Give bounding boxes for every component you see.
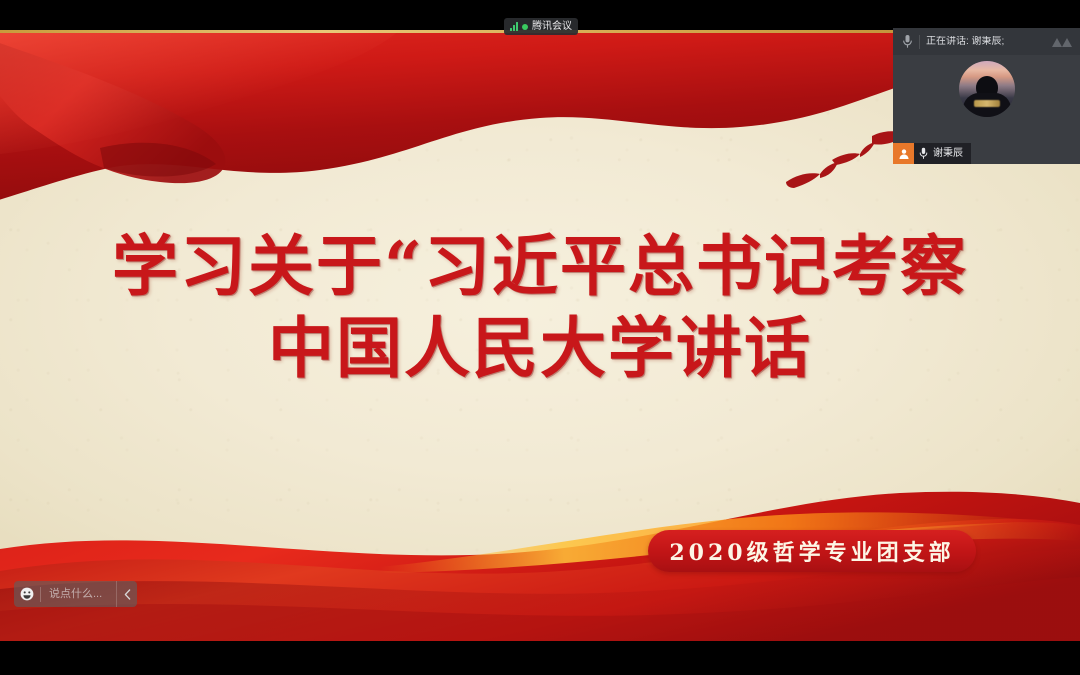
avatar-jacket-logo [974,100,1000,107]
speaking-status-label: 正在讲话: 谢秉辰; [926,36,1049,48]
collapse-chevrons-icon[interactable] [1049,32,1075,52]
slide-title: 学习关于“习近平总书记考察 中国人民大学讲话 [0,225,1080,389]
letterbox-bottom [0,641,1080,675]
organization-banner-label: 2020级哲学专业团支部 [669,535,954,567]
signal-bars-icon [510,22,518,31]
participant-name: 谢秉辰 [932,148,971,160]
chevron-left-icon[interactable] [116,581,137,607]
smiley-emoji-icon[interactable] [14,581,40,607]
green-status-dot-icon [522,24,528,30]
microphone-icon [914,143,932,164]
chat-input-placeholder[interactable]: 说点什么... [41,587,116,601]
participant-name-tag: 谢秉辰 [893,143,971,164]
avatar [959,61,1015,117]
video-panel-header: 正在讲话: 谢秉辰; [893,28,1080,55]
microphone-icon [898,32,917,51]
screen: 学习关于“习近平总书记考察 中国人民大学讲话 2020级哲学专业团支部 [0,0,1080,675]
meeting-status-pill[interactable]: 腾讯会议 [504,18,578,35]
video-panel-body[interactable]: 谢秉辰 [893,55,1080,164]
title-line-1: 学习关于“习近平总书记考察 [0,225,1080,307]
meeting-app-label: 腾讯会议 [532,21,572,33]
person-badge-icon [893,143,914,164]
organization-banner: 2020级哲学专业团支部 [648,530,976,572]
header-divider [919,35,920,49]
video-panel[interactable]: 正在讲话: 谢秉辰; [893,28,1080,164]
title-line-2: 中国人民大学讲话 [0,307,1080,389]
chat-input-bar[interactable]: 说点什么... [14,581,137,607]
